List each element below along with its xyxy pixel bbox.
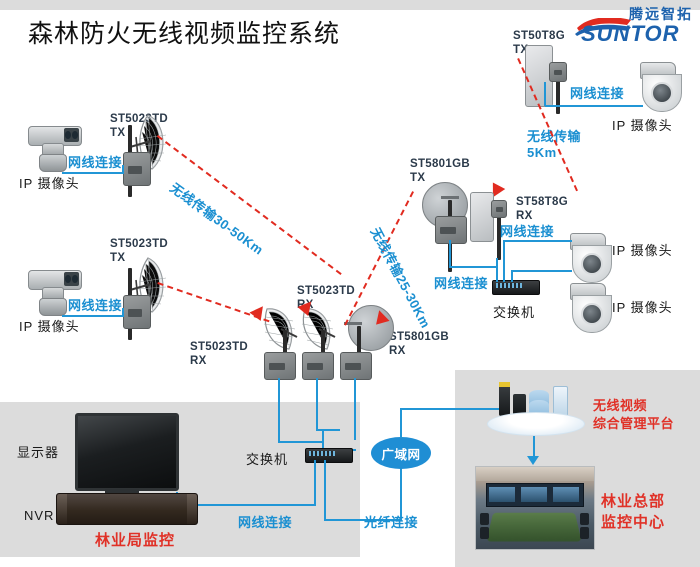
switch-uplink-1 xyxy=(278,378,280,442)
switch-center xyxy=(305,448,353,463)
wan-node: 广域网 xyxy=(371,437,431,469)
poe-radio-rx-2 xyxy=(302,352,334,380)
fiber-v1 xyxy=(324,460,326,520)
label-ip-camera-3: IP 摄像头 xyxy=(612,118,673,133)
lan-wire-3-h xyxy=(545,105,643,107)
label-wan: 广域网 xyxy=(381,444,420,463)
poe-radio-4 xyxy=(435,216,467,244)
switch-uplink-join-2 xyxy=(316,429,340,431)
poe-radio-rx-3 xyxy=(340,352,372,380)
label-wireless-30-50km: 无线传输30-50Km xyxy=(167,180,266,258)
label-hq-1: 林业总部 xyxy=(601,493,665,510)
panel-antenna-rx-4 xyxy=(470,192,494,242)
switch-uplink-join-1 xyxy=(278,441,324,443)
label-rx-1-port: RX xyxy=(190,355,207,368)
lan-wire-3-v xyxy=(544,82,546,106)
lan-wire-2-h xyxy=(62,315,124,317)
diagram-canvas: 森林防火无线视频监控系统 腾远智拓 SUNTOR ST5023TD TX xyxy=(0,0,700,567)
label-rx-1-model: ST5023TD xyxy=(190,341,248,354)
label-platform-1: 无线视频 xyxy=(593,398,647,413)
label-ip-camera-2: IP 摄像头 xyxy=(19,319,80,334)
label-switch-right: 交换机 xyxy=(493,305,535,320)
label-monitor: 显示器 xyxy=(17,445,59,460)
wireless-link-25-30km xyxy=(344,191,414,326)
brand-name-en: SUNTOR xyxy=(581,21,680,47)
lan-wire-4-h xyxy=(504,240,572,242)
dish-feed-4 xyxy=(441,196,459,199)
label-ip-camera-4: IP 摄像头 xyxy=(612,243,673,258)
platform-downlink-arrow xyxy=(527,456,539,465)
wan-uplink-h xyxy=(400,408,510,410)
label-tx-top-right-model: ST50T8G xyxy=(513,30,565,43)
label-rx-3-model: ST5801GB xyxy=(389,331,449,344)
panel-forestry-bureau xyxy=(0,402,360,557)
poe-radio-rx-1 xyxy=(264,352,296,380)
label-lan-6: 网线连接 xyxy=(238,515,292,530)
lan-wire-5-v xyxy=(511,270,513,282)
label-bureau-center: 林业局监控 xyxy=(95,532,175,549)
wireless-link-mid-left xyxy=(157,282,269,322)
lan-wire-2-v xyxy=(122,308,124,317)
switch-uplink-2 xyxy=(316,378,318,430)
label-rx-4-port: RX xyxy=(516,210,533,223)
lan-wire-1-h xyxy=(62,172,124,174)
label-lan-2: 网线连接 xyxy=(68,298,122,313)
poe-radio-1 xyxy=(123,152,151,186)
label-tx-mid-left-model: ST5023TD xyxy=(110,238,168,251)
label-lan-5: 网线连接 xyxy=(434,276,488,291)
lan-wire-1-v xyxy=(122,165,124,174)
label-lan-4: 网线连接 xyxy=(500,224,554,239)
label-ip-camera-1: IP 摄像头 xyxy=(19,176,80,191)
label-lan-3: 网线连接 xyxy=(570,86,624,101)
lan-wire-6-v2 xyxy=(496,258,498,282)
lan-wire-6-v xyxy=(449,240,451,268)
switch-right xyxy=(492,280,540,295)
label-tx-center-right-model: ST5801GB xyxy=(410,158,470,171)
lan-wire-6-h xyxy=(449,266,497,268)
label-lan-1: 网线连接 xyxy=(68,155,122,170)
wan-uplink-v xyxy=(400,408,402,438)
label-ip-camera-5: IP 摄像头 xyxy=(612,300,673,315)
brand-logo: 腾远智拓 SUNTOR xyxy=(575,3,695,45)
nvr-lan-v xyxy=(314,460,316,505)
switch-uplink-3 xyxy=(354,378,356,440)
page-title: 森林防火无线视频监控系统 xyxy=(28,20,340,49)
poe-radio-5 xyxy=(491,200,507,218)
label-fiber: 光纤连接 xyxy=(364,515,418,530)
label-wireless-5km-2: 5Km xyxy=(527,145,557,160)
label-platform-2: 综合管理平台 xyxy=(593,416,674,431)
label-rx-3-port: RX xyxy=(389,345,406,358)
label-hq-2: 监控中心 xyxy=(601,514,665,531)
label-rx-4-model: ST58T8G xyxy=(516,196,568,209)
label-switch-center: 交换机 xyxy=(246,452,288,467)
poe-radio-2 xyxy=(123,295,151,329)
label-nvr: NVR xyxy=(24,508,54,523)
label-tx-center-right-port: TX xyxy=(410,172,425,185)
lan-wire-5-h xyxy=(512,270,572,272)
fiber-v2 xyxy=(400,468,402,521)
control-room-photo xyxy=(475,466,595,550)
nvr-device xyxy=(56,493,198,525)
poe-radio-3 xyxy=(549,62,567,82)
lan-wire-4-v xyxy=(503,240,505,282)
platform-downlink xyxy=(533,436,535,458)
